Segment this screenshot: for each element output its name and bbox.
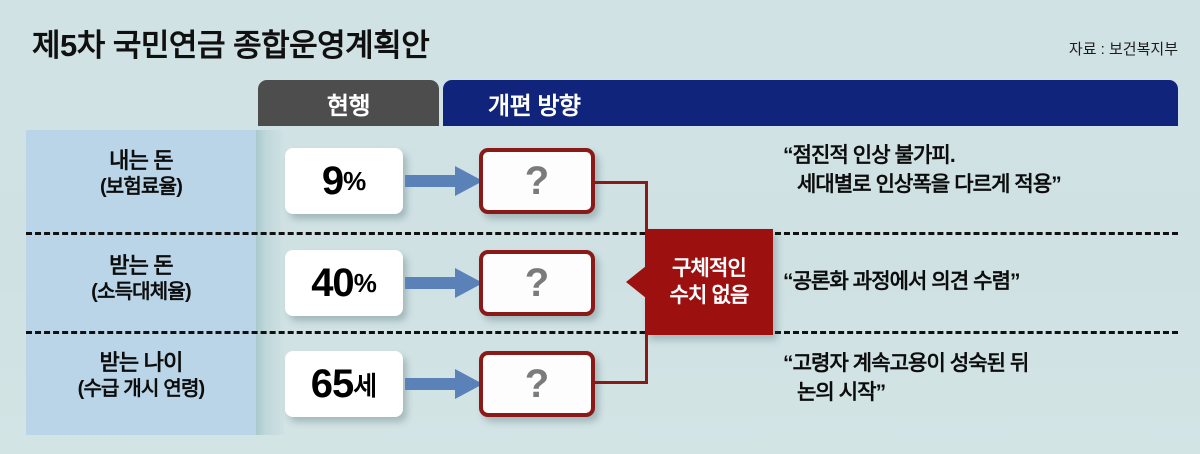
reform-value-0: ? — [525, 159, 549, 204]
callout-line2: 수치 없음 — [669, 282, 748, 309]
reform-value-box-0: ? — [479, 148, 595, 214]
row-label-1: 받는 돈 (소득대체율) — [26, 253, 256, 304]
row-label-0: 내는 돈 (보험료율) — [26, 148, 256, 199]
column-header-current: 현행 — [258, 80, 439, 126]
current-value-1: 40 — [311, 261, 354, 306]
current-unit-2: 세 — [353, 366, 377, 403]
panel-fade-divider — [256, 130, 284, 435]
row-quote-1: “공론화 과정에서 의견 수렴” — [783, 268, 1183, 297]
current-value-box-1: 40 % — [285, 250, 403, 316]
callout-pointer-icon — [626, 266, 646, 298]
row-label-2-main: 받는 나이 — [99, 350, 182, 375]
row-label-1-main: 받는 돈 — [109, 253, 173, 278]
page-title: 제5차 국민연금 종합운영계획안 — [32, 20, 429, 65]
current-unit-0: % — [343, 166, 366, 197]
row-quote-1-line1: “공론화 과정에서 의견 수렴” — [783, 270, 1020, 293]
column-header-reform: 개편 방향 — [443, 80, 1178, 126]
current-unit-1: % — [354, 268, 377, 299]
column-header-reform-label: 개편 방향 — [488, 86, 581, 121]
current-value-box-0: 9 % — [285, 148, 403, 214]
callout-line1: 구체적인 — [672, 255, 746, 282]
row-label-0-main: 내는 돈 — [109, 148, 173, 173]
arrow-right-icon-1 — [405, 266, 483, 300]
arrow-right-icon-2 — [405, 367, 483, 401]
row-quote-2: “고령자 계속고용이 성숙된 뒤 논의 시작” — [783, 350, 1183, 408]
row-quote-0-line1: “점진적 인상 불가피. — [783, 144, 955, 167]
row-quote-0-line2: 세대별로 인상폭을 다르게 적용” — [783, 171, 1183, 200]
row-quote-2-line1: “고령자 계속고용이 성숙된 뒤 — [783, 352, 1028, 375]
reform-value-box-2: ? — [479, 351, 595, 417]
row-label-2-sub: (수급 개시 연령) — [26, 377, 256, 401]
current-value-0: 9 — [322, 159, 343, 204]
row-quote-2-line2: 논의 시작” — [783, 379, 1183, 408]
row-label-0-sub: (보험료율) — [26, 175, 256, 199]
reform-value-1: ? — [525, 261, 549, 306]
row-label-1-sub: (소득대체율) — [26, 280, 256, 304]
reform-value-2: ? — [525, 362, 549, 407]
infographic-root: 제5차 국민연금 종합운영계획안 자료 : 보건복지부 현행 개편 방향 내는 … — [0, 0, 1200, 454]
reform-value-box-1: ? — [479, 250, 595, 316]
column-header-current-label: 현행 — [327, 86, 370, 121]
current-value-box-2: 65 세 — [285, 351, 403, 417]
source-attribution: 자료 : 보건복지부 — [1069, 38, 1178, 59]
arrow-right-icon-0 — [405, 164, 483, 198]
current-value-2: 65 — [311, 362, 354, 407]
callout-no-figures: 구체적인 수치 없음 — [645, 229, 773, 335]
row-quote-0: “점진적 인상 불가피. 세대별로 인상폭을 다르게 적용” — [783, 142, 1183, 200]
row-label-2: 받는 나이 (수급 개시 연령) — [26, 350, 256, 401]
